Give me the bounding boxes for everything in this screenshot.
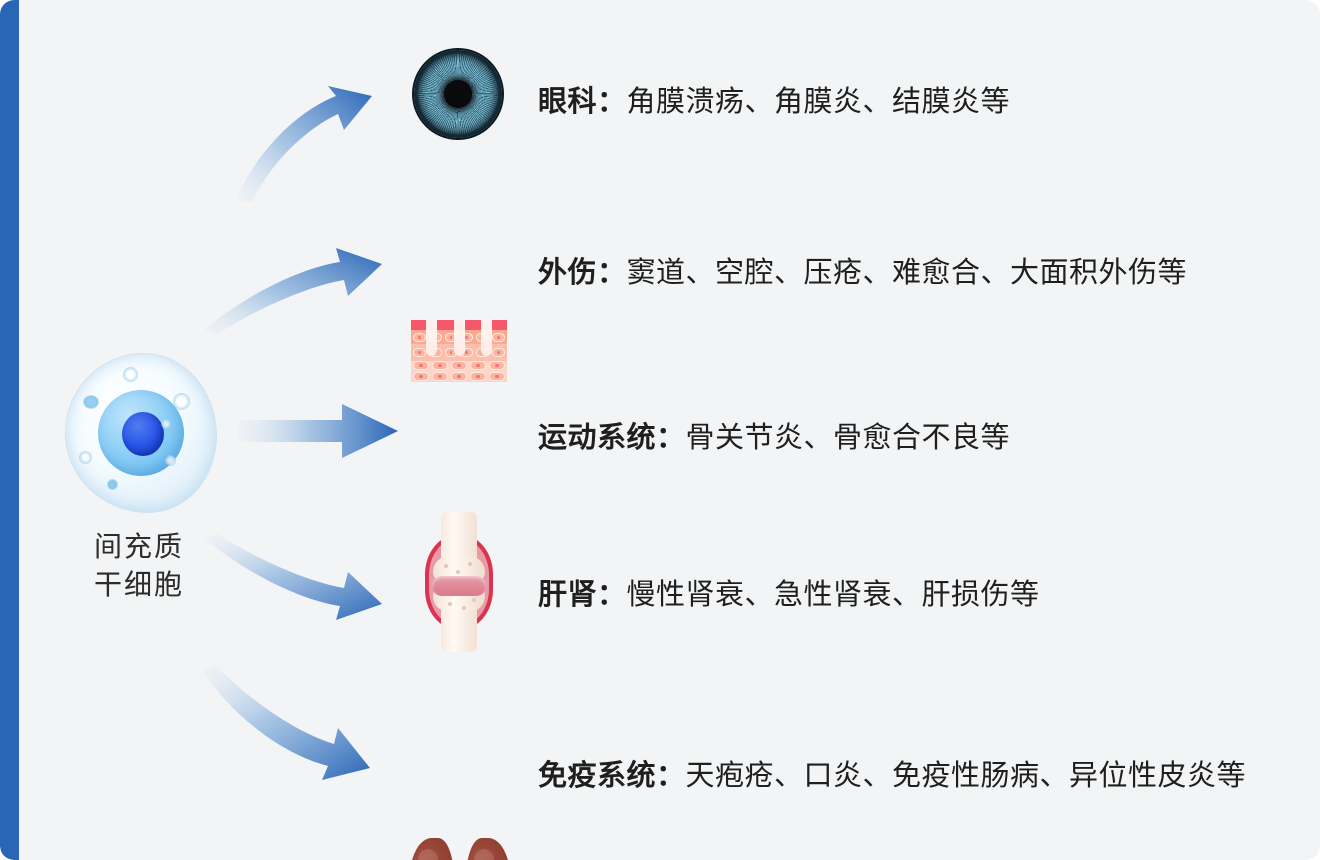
joint-cartilage	[432, 576, 486, 596]
left-accent-bar	[0, 0, 19, 860]
stem-cell-icon	[62, 350, 220, 520]
cell-vesicle	[108, 480, 117, 489]
right-kidney	[466, 838, 510, 860]
row-text-1: 眼科：角膜溃疡、角膜炎、结膜炎等	[538, 78, 1010, 120]
skin-cell-row	[411, 361, 507, 370]
row-items-5: 天疱疮、口炎、免疫性肠病、异位性皮炎等	[686, 760, 1247, 792]
cell-vesicle	[124, 368, 137, 381]
eye-icon	[414, 50, 502, 138]
hair-follicle	[426, 320, 437, 356]
row-items-4: 慢性肾衰、急性肾衰、肝损伤等	[627, 579, 1040, 611]
row-text-5: 免疫系统：天疱疮、口炎、免疫性肠病、异位性皮炎等	[538, 752, 1246, 794]
row-items-3: 骨关节炎、骨愈合不良等	[686, 422, 1011, 454]
skin-layers-icon	[411, 320, 507, 382]
cell-nucleus	[122, 412, 164, 456]
cell-vesicle	[84, 396, 98, 408]
left-kidney	[410, 838, 454, 860]
arrow-to-row-4	[196, 528, 396, 638]
row-category-5: 免疫系统：	[538, 760, 686, 792]
diagram-canvas: 间充质 干细胞	[0, 0, 1320, 860]
row-text-3: 运动系统：骨关节炎、骨愈合不良等	[538, 414, 1010, 456]
row-text-4: 肝肾：慢性肾衰、急性肾衰、肝损伤等	[538, 571, 1040, 613]
row-text-2: 外伤：窦道、空腔、压疮、难愈合、大面积外伤等	[538, 249, 1187, 291]
cell-vesicle	[80, 452, 91, 463]
hair-follicle	[454, 320, 465, 356]
cell-vesicle	[166, 456, 175, 465]
arrow-to-row-2	[196, 230, 396, 340]
arrow-to-row-3	[238, 400, 402, 462]
arrow-to-row-1	[196, 52, 396, 232]
kidneys-icon	[408, 836, 512, 860]
row-items-2: 窦道、空腔、压疮、难愈合、大面积外伤等	[627, 257, 1188, 289]
row-category-2: 外伤：	[538, 257, 627, 289]
skin-cell-row	[411, 372, 507, 381]
arrow-to-row-5	[196, 662, 396, 792]
eye-pupil	[444, 80, 472, 108]
cell-vesicle	[174, 394, 189, 409]
row-category-4: 肝肾：	[538, 579, 627, 611]
cell-vesicle	[162, 420, 170, 428]
row-category-3: 运动系统：	[538, 422, 686, 454]
knee-joint-icon	[424, 512, 494, 652]
row-category-1: 眼科：	[538, 86, 627, 118]
row-items-1: 角膜溃疡、角膜炎、结膜炎等	[627, 86, 1011, 118]
hair-follicle	[481, 320, 492, 356]
